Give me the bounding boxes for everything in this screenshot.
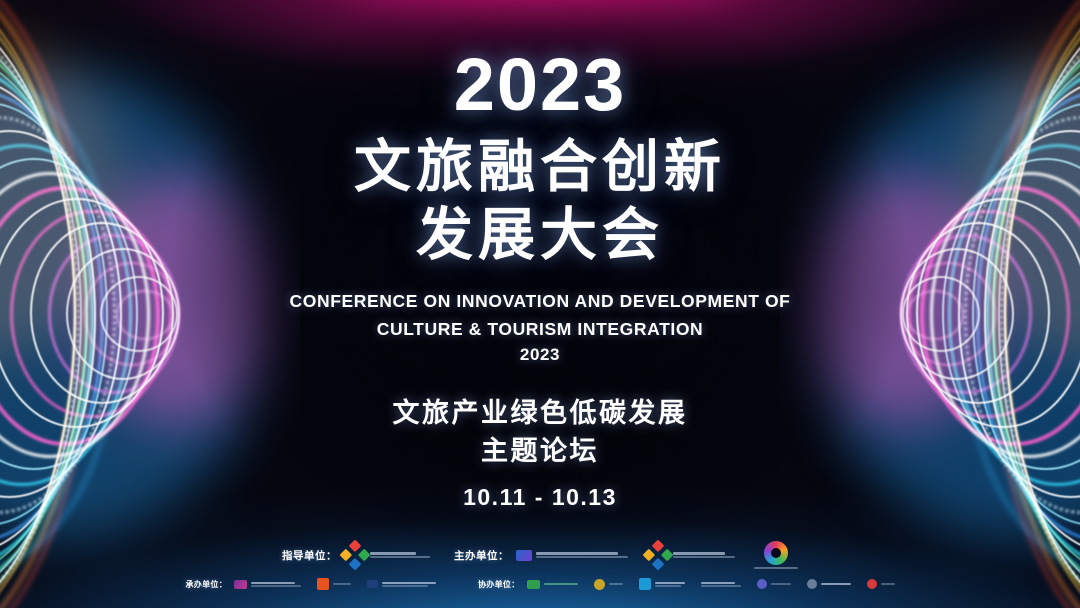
logo-caption [655,582,685,587]
title-en-line1: CONFERENCE ON INNOVATION AND DEVELOPMENT… [290,288,791,314]
title-cn-line1: 文旅融合创新 [354,134,726,200]
logo-caption [370,552,430,558]
color-wheel-logo-icon [764,541,788,565]
chip-logo-icon [527,580,540,589]
chip-square-logo-icon [639,578,651,590]
co-sponsor-logo-3[interactable] [639,578,685,590]
sponsor-label-cosponsor: 协办单位： [478,579,520,590]
chip-logo-icon [234,580,247,589]
sponsor-row-primary: 指导单位： 主办单位： [282,541,798,569]
chip-logo-icon [516,550,532,561]
sponsor-label-host: 主办单位： [454,548,509,563]
chip-square-logo-icon [757,579,767,589]
title-en-year: 2023 [520,345,560,365]
logo-caption [609,583,623,585]
logo-caption [544,583,578,586]
logo-caption [881,583,895,585]
poster-content: 2023 文旅融合创新 发展大会 CONFERENCE ON INNOVATIO… [0,0,1080,608]
co-sponsor-logo-7[interactable] [867,579,895,589]
forum-line1: 文旅产业绿色低碳发展 [393,395,688,431]
conference-poster: 2023 文旅融合创新 发展大会 CONFERENCE ON INNOVATIO… [0,0,1080,608]
logo-caption [821,583,851,586]
co-sponsor-logo-5[interactable] [757,579,791,589]
sponsor-group-cosponsor: 协办单位： [478,578,895,590]
co-sponsor-logo-2[interactable] [594,579,623,590]
chip-square-logo-icon [317,578,329,590]
event-date-range: 10.11 - 10.13 [463,484,617,511]
logo-caption [754,567,798,569]
sponsor-row-secondary: 承办单位： 协办单位： [186,578,895,590]
sponsor-label-organizer: 承办单位： [186,579,228,590]
chip-square-logo-icon [594,579,605,590]
sponsor-label-guidance: 指导单位： [282,548,337,563]
chip-square-logo-icon [807,579,817,589]
sponsor-group-host: 主办单位： [454,541,798,569]
diamond-logo-icon [642,539,673,570]
logo-caption [701,582,741,587]
logo-caption [771,583,791,585]
logo-caption [251,582,301,587]
logo-caption [333,583,351,585]
title-cn-line2: 发展大会 [416,202,664,268]
huaxia-urban-planning-institute-logo[interactable] [516,550,628,561]
sponsor-logo-1[interactable] [234,580,301,589]
logo-caption [382,582,436,587]
china-chamber-of-tourism-logo-2[interactable] [647,544,735,566]
chip-square-logo-icon [867,579,877,589]
sponsor-group-organizer: 承办单位： [186,578,437,590]
title-en-line2: CULTURE & TOURISM INTEGRATION [377,316,704,342]
co-sponsor-logo-1[interactable] [527,580,578,589]
guangdong-tourism-group-logo[interactable] [754,541,798,569]
sponsor-strip: 指导单位： 主办单位： [0,541,1080,590]
co-sponsor-logo-4[interactable] [701,582,741,587]
logo-caption [536,552,628,558]
china-chamber-of-tourism-logo[interactable] [344,544,430,566]
sponsor-group-guidance: 指导单位： [282,544,430,566]
forum-line2: 主题论坛 [481,433,599,469]
diamond-logo-icon [339,539,370,570]
chip-logo-icon [367,580,378,588]
logo-caption [673,552,735,558]
co-sponsor-logo-6[interactable] [807,579,851,589]
poster-year: 2023 [454,48,627,122]
sponsor-logo-3[interactable] [367,580,436,588]
sponsor-logo-2[interactable] [317,578,351,590]
